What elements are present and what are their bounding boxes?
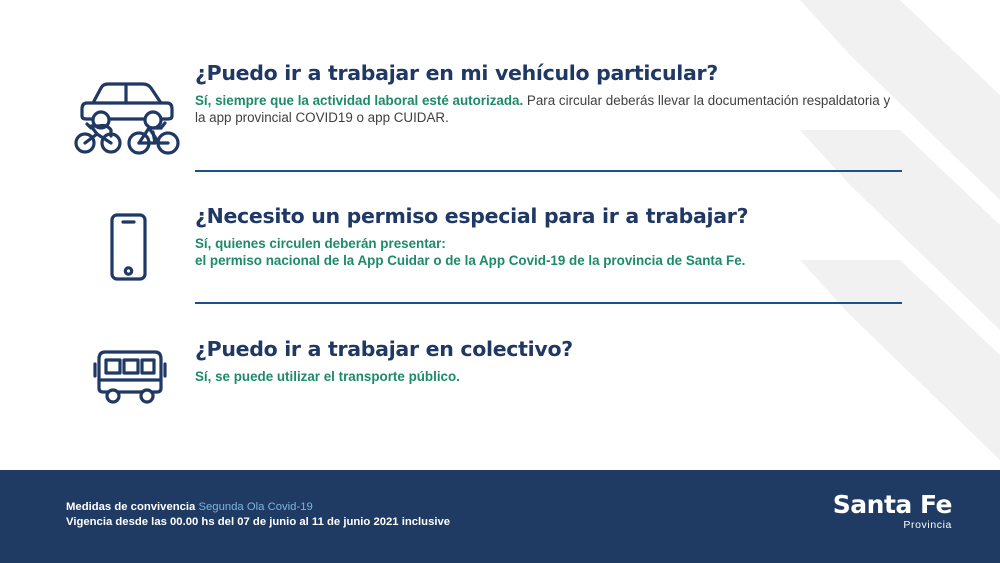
footer-info: Medidas de convivencia Segunda Ola Covid… [66, 500, 450, 530]
divider-2 [195, 302, 902, 304]
faq-answer-1: Sí, siempre que la actividad laboral est… [195, 92, 895, 126]
faq-text-1: ¿Puedo ir a trabajar en mi vehículo part… [195, 62, 940, 126]
faq-question-3: ¿Puedo ir a trabajar en colectivo? [195, 338, 940, 362]
faq-text-3: ¿Puedo ir a trabajar en colectivo? Sí, s… [195, 338, 940, 385]
faq-content: ¿Puedo ir a trabajar en mi vehículo part… [0, 0, 1000, 470]
faq-text-2: ¿Necesito un permiso especial para ir a … [195, 205, 940, 269]
faq-answer-2-line2: el permiso nacional de la App Cuidar o d… [195, 252, 895, 269]
faq-question-2: ¿Necesito un permiso especial para ir a … [195, 205, 940, 229]
brand-subtitle: Provincia [833, 520, 952, 531]
faq-answer-3-bold: Sí, se puede utilizar el transporte públ… [195, 369, 460, 384]
footer-line-1: Medidas de convivencia Segunda Ola Covid… [66, 500, 450, 515]
bus-icon [60, 338, 195, 412]
faq-item-1: ¿Puedo ir a trabajar en mi vehículo part… [60, 62, 940, 156]
faq-answer-2-bold: Sí, quienes circulen deberán presentar: [195, 235, 895, 252]
divider-1 [195, 170, 902, 172]
faq-question-1: ¿Puedo ir a trabajar en mi vehículo part… [195, 62, 940, 86]
footer-line-2: Vigencia desde las 00.00 hs del 07 de ju… [66, 515, 450, 530]
footer-wave-label: Segunda Ola Covid-19 [195, 501, 312, 513]
santa-fe-logo: Santa Fe Provincia [833, 492, 952, 531]
mobile-phone-icon [60, 205, 195, 289]
faq-answer-1-bold: Sí, siempre que la actividad laboral est… [195, 93, 523, 108]
car-motorcycle-bicycle-icon [60, 62, 195, 156]
faq-item-2: ¿Necesito un permiso especial para ir a … [60, 205, 940, 289]
brand-name: Santa Fe [833, 492, 952, 517]
faq-answer-2: Sí, quienes circulen deberán presentar:e… [195, 235, 895, 269]
faq-item-3: ¿Puedo ir a trabajar en colectivo? Sí, s… [60, 338, 940, 412]
faq-answer-3: Sí, se puede utilizar el transporte públ… [195, 368, 895, 385]
footer-measure-label: Medidas de convivencia [66, 501, 195, 513]
